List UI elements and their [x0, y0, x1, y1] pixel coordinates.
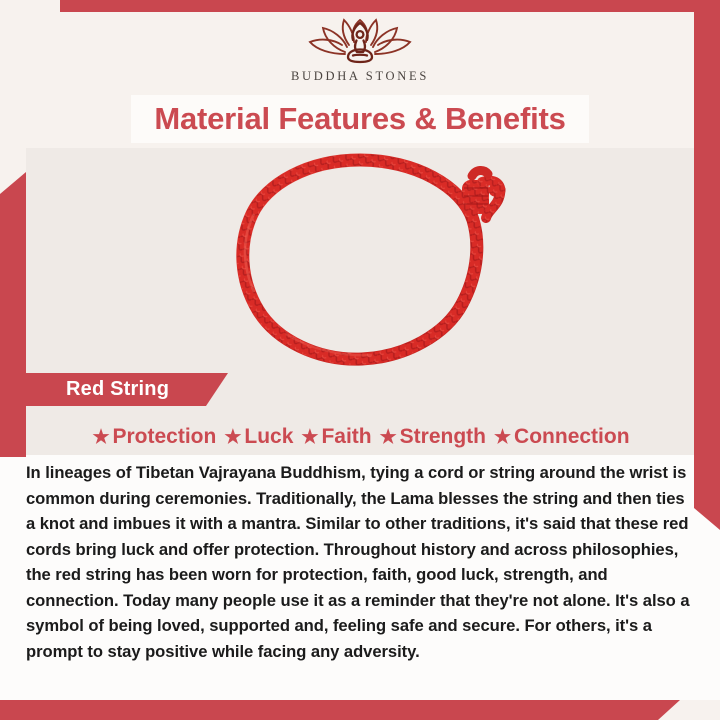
- description-paragraph: In lineages of Tibetan Vajrayana Buddhis…: [26, 460, 694, 664]
- product-label-text: Red String: [26, 378, 169, 401]
- benefit-keywords-row: ★ Protection ★ Luck ★ Faith ★ Strength ★…: [26, 420, 696, 454]
- decor-bar-top: [60, 0, 720, 12]
- infographic-page: BUDDHA STONES Material Features & Benefi…: [0, 0, 720, 720]
- lotus-meditation-icon: [301, 14, 419, 66]
- red-braided-string-bracelet: [190, 152, 530, 377]
- star-icon: ★: [301, 428, 318, 447]
- keyword-label: Protection: [113, 425, 217, 449]
- keyword-strength: ★ Strength: [376, 425, 490, 449]
- star-icon: ★: [380, 428, 397, 447]
- decor-bar-left: [0, 172, 26, 457]
- keyword-label: Luck: [244, 425, 293, 449]
- star-icon: ★: [92, 428, 109, 447]
- title-banner: Material Features & Benefits: [131, 95, 589, 143]
- brand-name: BUDDHA STONES: [0, 69, 720, 84]
- keyword-label: Strength: [400, 425, 486, 449]
- decor-bar-bottom: [0, 700, 680, 720]
- product-label-ribbon: Red String: [26, 373, 228, 406]
- star-icon: ★: [494, 428, 511, 447]
- brand-logo: BUDDHA STONES: [0, 14, 720, 84]
- keyword-label: Faith: [321, 425, 371, 449]
- keyword-luck: ★ Luck: [220, 425, 297, 449]
- keyword-protection: ★ Protection: [88, 425, 220, 449]
- keyword-faith: ★ Faith: [297, 425, 375, 449]
- keyword-label: Connection: [514, 425, 630, 449]
- keyword-connection: ★ Connection: [490, 425, 634, 449]
- star-icon: ★: [224, 428, 241, 447]
- page-title: Material Features & Benefits: [154, 101, 565, 137]
